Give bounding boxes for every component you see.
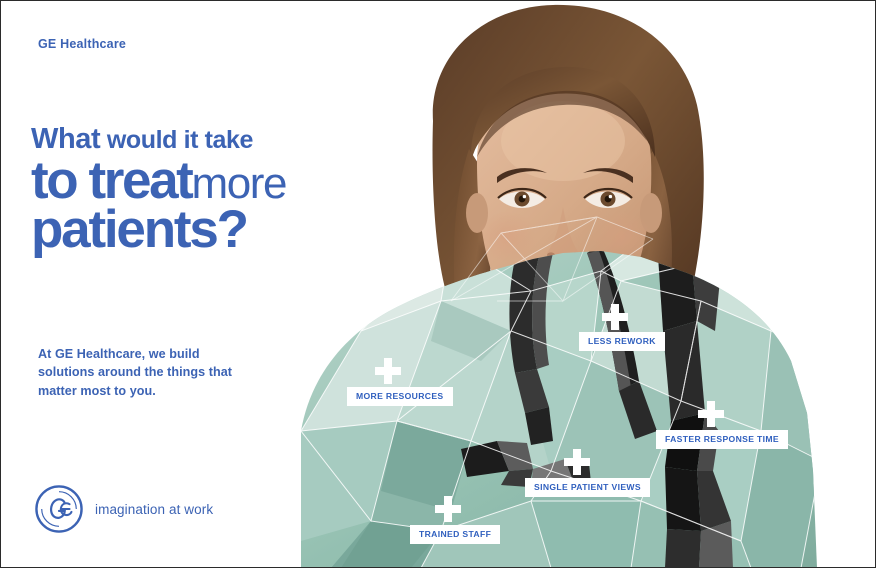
- callout-label-more-resources[interactable]: MORE RESOURCES: [347, 387, 453, 406]
- plus-icon: [375, 358, 401, 384]
- page-title: What would it take to treatmore patients…: [31, 125, 286, 256]
- plus-icon: [602, 304, 628, 330]
- body-copy-line-3: matter most to you.: [38, 382, 232, 400]
- cheek-left: [477, 211, 537, 263]
- callout-label-trained-staff[interactable]: TRAINED STAFF: [410, 525, 500, 544]
- plus-icon: [435, 496, 461, 522]
- headline-line-1: What would it take: [31, 125, 286, 154]
- ge-monogram-icon: [35, 485, 83, 533]
- plus-icon: [564, 449, 590, 475]
- headline-line1-rest: would it take: [107, 126, 253, 154]
- plus-icon: [698, 401, 724, 427]
- brand-wordmark: GE Healthcare: [38, 37, 126, 51]
- callout-label-single-patient-views[interactable]: SINGLE PATIENT VIEWS: [525, 478, 650, 497]
- body-copy: At GE Healthcare, we build solutions aro…: [38, 345, 232, 400]
- ge-tagline: imagination at work: [95, 502, 213, 517]
- body-copy-line-1: At GE Healthcare, we build: [38, 345, 232, 363]
- headline-line-3: patients?: [31, 203, 286, 256]
- ge-logo-lockup: imagination at work: [35, 485, 213, 533]
- ad-page: GE Healthcare: [0, 0, 876, 568]
- body-copy-line-2: solutions around the things that: [38, 363, 232, 381]
- callout-label-faster-response-time[interactable]: FASTER RESPONSE TIME: [656, 430, 788, 449]
- callout-label-less-rework[interactable]: LESS REWORK: [579, 332, 665, 351]
